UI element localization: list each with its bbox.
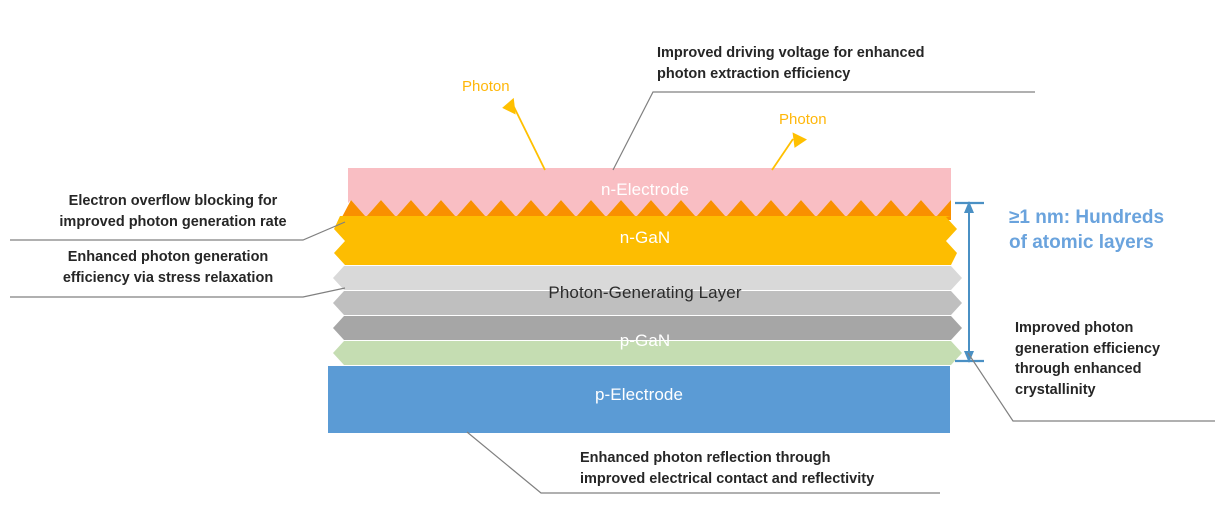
photon-arrow-1 (502, 95, 545, 170)
photon-label-left: Photon (462, 78, 510, 95)
callout-left-upper: Electron overflow blocking for improved … (28, 191, 318, 232)
callout-left-lower: Enhanced photon generation efficiency vi… (18, 247, 318, 288)
layer-active-middle (333, 291, 962, 315)
photon-label-right: Photon (779, 111, 827, 128)
photon-arrow-2 (772, 128, 807, 170)
layer-p-gan (333, 341, 962, 365)
thickness-arrow (955, 201, 984, 363)
callout-right-lower: Improved photon generation efficiency th… (1015, 318, 1220, 400)
photon-arrow-1-head (502, 95, 522, 114)
layer-n-gan (334, 216, 957, 265)
layer-p-electrode-body (328, 366, 950, 433)
callout-bottom: Enhanced photon reflection through impro… (580, 448, 960, 489)
layer-active-lower (333, 316, 962, 340)
layer-active-middle-body (333, 291, 962, 315)
callout-top-right: Improved driving voltage for enhanced ph… (657, 43, 1037, 84)
diagram-canvas: n-Electrode n-GaN Photon-Generating Laye… (0, 0, 1226, 517)
layer-p-electrode (328, 366, 950, 433)
layer-active-upper-body (333, 266, 962, 290)
photon-arrow-2-shaft (772, 139, 793, 170)
leader-top-right (613, 92, 1035, 170)
layer-p-gan-body (333, 341, 962, 365)
layer-n-gan-body (334, 216, 957, 265)
leader-left-lower (10, 288, 345, 297)
thickness-annotation-text: ≥1 nm: Hundreds of atomic layers (1009, 205, 1224, 255)
layer-active-lower-body (333, 316, 962, 340)
photon-arrow-1-shaft (514, 107, 545, 170)
layer-active-upper (333, 266, 962, 290)
